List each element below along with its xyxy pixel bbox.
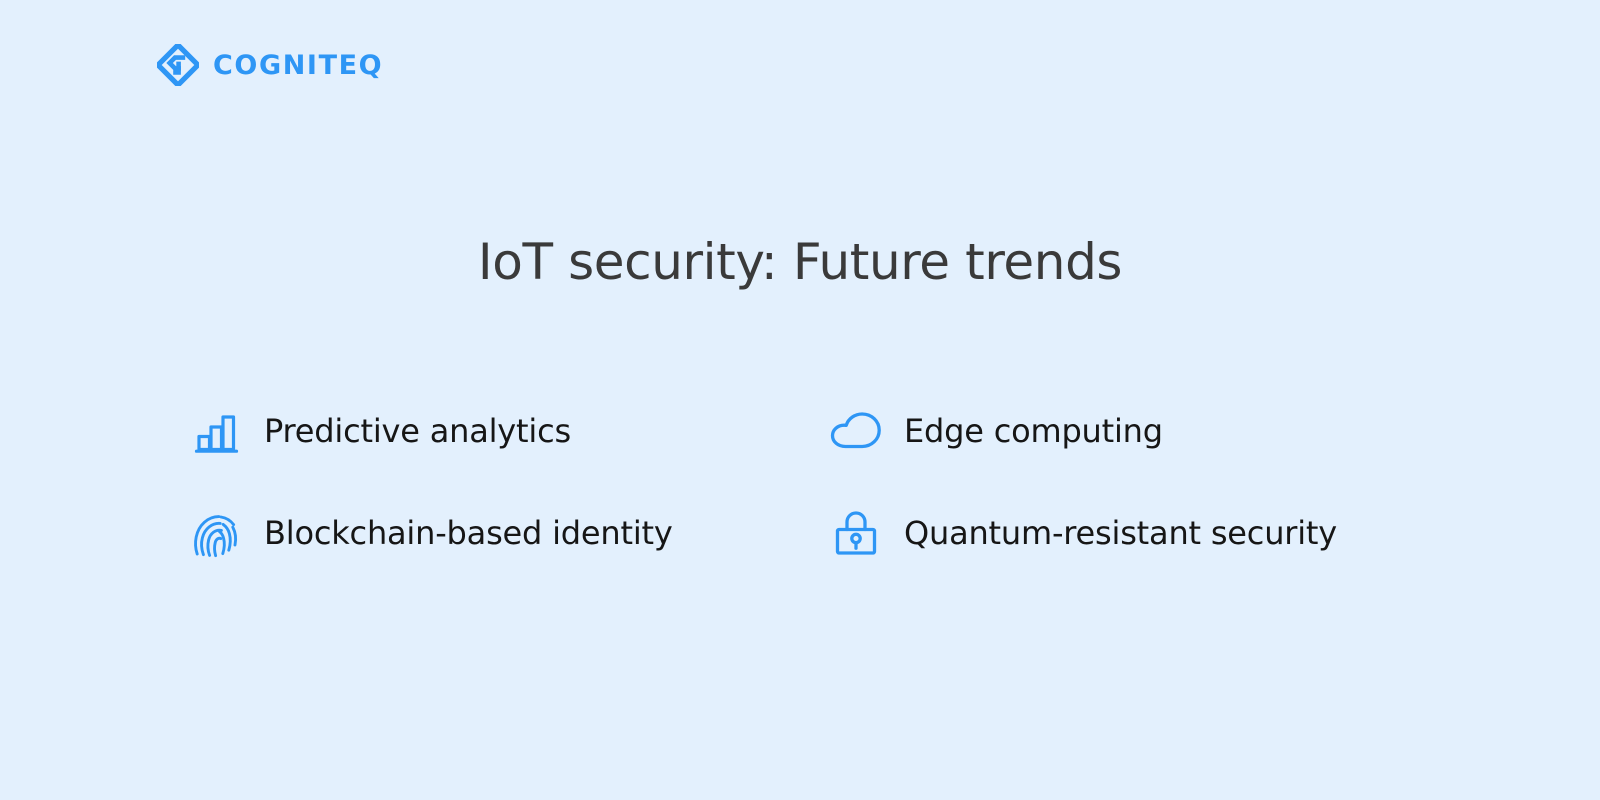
page-title: IoT security: Future trends xyxy=(0,232,1600,292)
feature-label: Predictive analytics xyxy=(264,411,571,451)
cloud-icon xyxy=(830,405,882,457)
feature-label: Edge computing xyxy=(904,411,1163,451)
feature-label: Quantum-resistant security xyxy=(904,513,1337,553)
fingerprint-icon xyxy=(190,507,242,559)
feature-item-predictive-analytics: Predictive analytics xyxy=(190,380,830,482)
feature-item-edge-computing: Edge computing xyxy=(830,380,1430,482)
lock-icon xyxy=(830,507,882,559)
feature-label: Blockchain-based identity xyxy=(264,513,673,553)
bar-chart-icon xyxy=(190,405,242,457)
brand-name: COGNITEQ xyxy=(213,52,383,79)
cogniteq-diamond-logo-icon xyxy=(157,44,199,86)
feature-item-quantum-security: Quantum-resistant security xyxy=(830,482,1430,584)
brand-logo[interactable]: COGNITEQ xyxy=(157,44,383,86)
features-grid: Predictive analytics Edge computing xyxy=(190,380,1430,584)
feature-item-blockchain-identity: Blockchain-based identity xyxy=(190,482,830,584)
